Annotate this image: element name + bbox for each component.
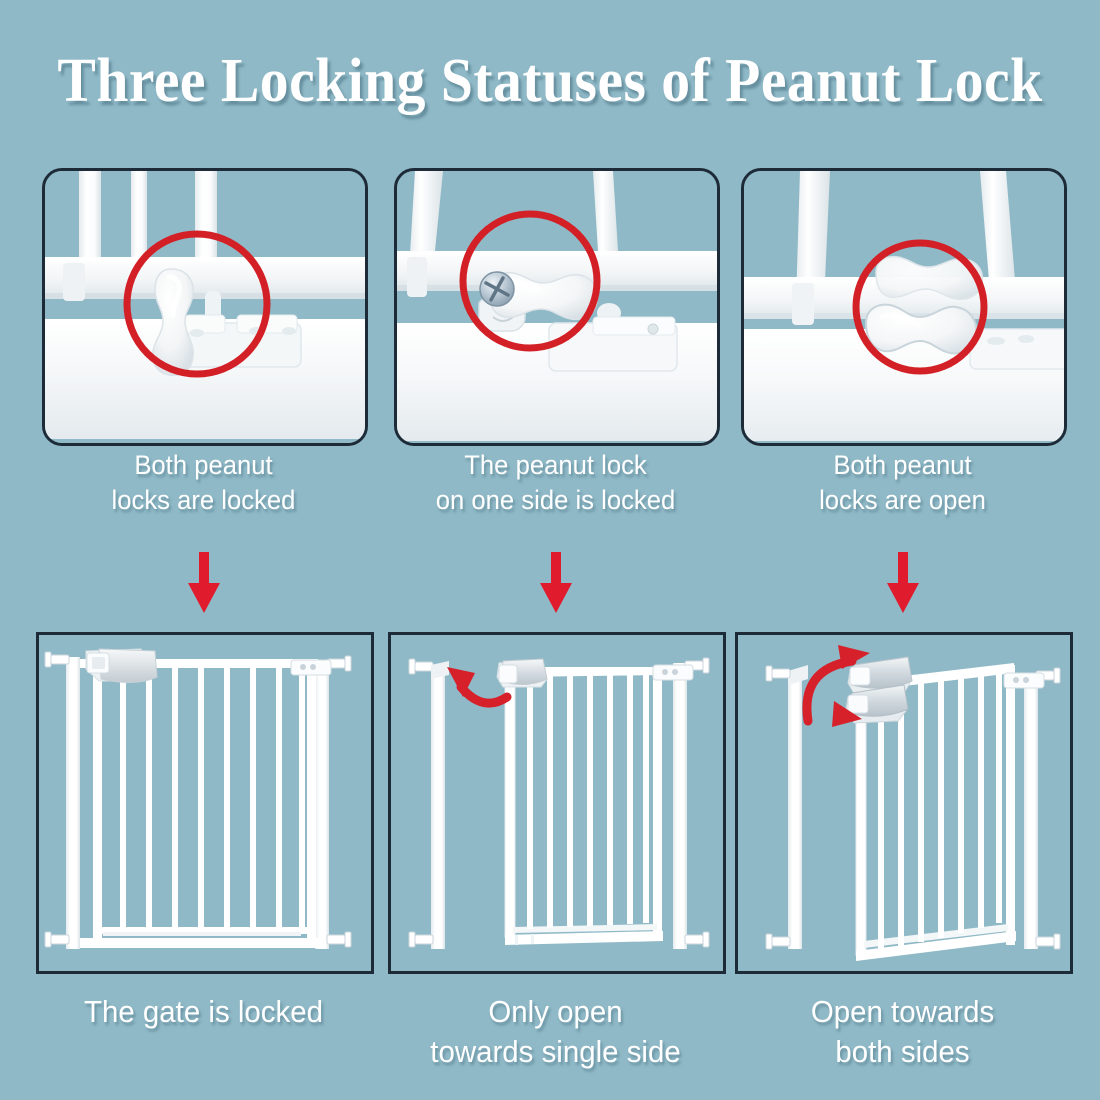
lock-closeup-illustration-1 [45, 171, 365, 443]
gate-panel-open-single [388, 632, 726, 974]
status-column-both-locked: Both peanut locks are locked [30, 0, 377, 1100]
gate-panel-open-both [735, 632, 1073, 974]
caption-line-2: locks are locked [112, 485, 296, 515]
caption-top-both-open: Both peanut locks are open [738, 448, 1068, 518]
gate-illustration-open-both [738, 635, 1070, 971]
photo-panel-both-locked [42, 168, 368, 446]
screw-head-icon [480, 272, 514, 306]
gate-handle-icon [846, 657, 912, 723]
gate-latch-catch-icon [1004, 673, 1044, 688]
lock-closeup-photo-2 [397, 171, 717, 443]
caption-line-1: Open towards [811, 994, 994, 1029]
lock-closeup-illustration-2 [397, 171, 717, 443]
caption-bottom-gate-locked: The gate is locked [39, 992, 369, 1032]
gate-illustration-closed [39, 635, 371, 971]
caption-line-1: Only open [488, 994, 622, 1029]
lock-closeup-illustration-3 [744, 171, 1064, 443]
gate-illustration-open-single [391, 635, 723, 971]
gate-latch-catch-icon [653, 665, 693, 680]
down-arrow-icon-2 [539, 552, 573, 614]
gate-handle-icon [86, 649, 157, 683]
lock-closeup-photo-1 [45, 171, 365, 443]
status-column-one-side-locked: The peanut lock on one side is locked [382, 0, 729, 1100]
status-column-both-open: Both peanut locks are open [729, 0, 1076, 1100]
photo-panel-both-open [741, 168, 1067, 446]
gate-panel-closed [36, 632, 374, 974]
caption-line-1: The peanut lock [464, 450, 647, 480]
caption-bottom-open-both: Open towards both sides [738, 992, 1068, 1072]
caption-line-1: Both peanut [833, 450, 971, 480]
caption-line-2: both sides [835, 1034, 969, 1069]
down-arrow-icon-1 [187, 552, 221, 614]
caption-top-both-locked: Both peanut locks are locked [39, 448, 369, 518]
lock-closeup-photo-3 [744, 171, 1064, 443]
caption-top-one-side-locked: The peanut lock on one side is locked [391, 448, 721, 518]
caption-line-2: towards single side [430, 1034, 680, 1069]
gate-latch-catch-icon [291, 660, 331, 675]
caption-line-1: Both peanut [134, 450, 272, 480]
photo-panel-one-side-locked [394, 168, 720, 446]
caption-line-2: on one side is locked [436, 485, 676, 515]
gate-handle-icon [497, 659, 547, 687]
down-arrow-icon-3 [886, 552, 920, 614]
caption-line-2: locks are open [819, 485, 986, 515]
caption-line-1: The gate is locked [84, 994, 323, 1029]
caption-bottom-open-single: Only open towards single side [391, 992, 721, 1072]
